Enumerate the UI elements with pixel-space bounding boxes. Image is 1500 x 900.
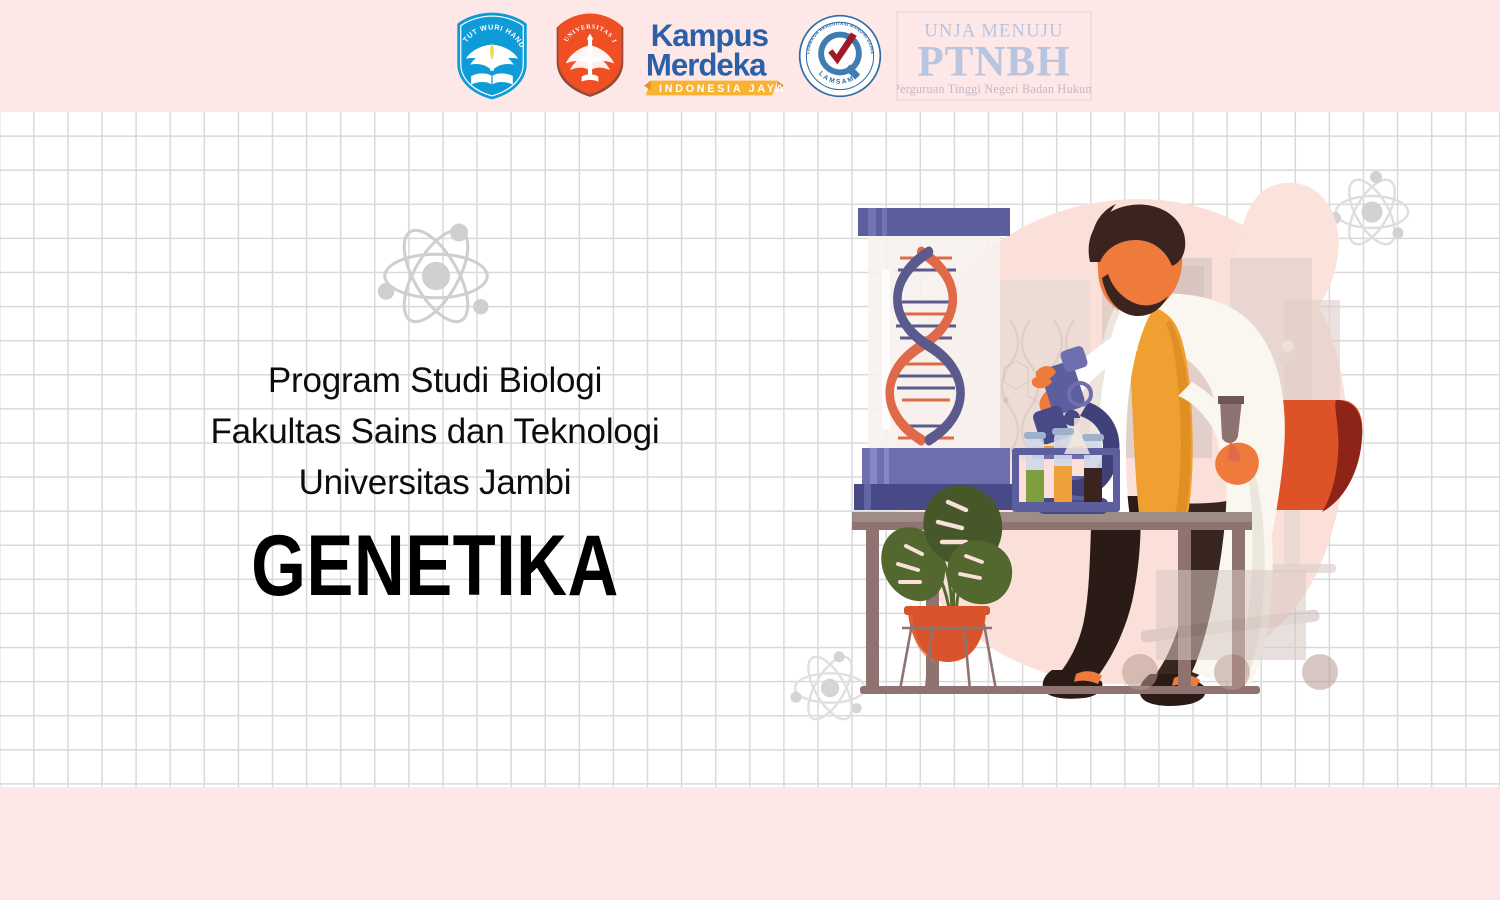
dna-double-helix-cylinder [854,208,1016,510]
tut-wuri-handayani-logo: TUT WURI HANDAYANI [448,10,536,102]
title-group: Program Studi Biologi Fakultas Sains dan… [110,355,760,612]
unja-ptnbh-logo: UNJA MENUJU PTNBH Perguruan Tinggi Neger… [896,11,1092,101]
logo-strip: TUT WURI HANDAYANI UNIVERSITAS JAMBI [448,0,1092,112]
program-line-2: Fakultas Sains dan Teknologi [110,406,760,457]
svg-text:Merdeka: Merdeka [646,48,767,83]
atom-icon-left [372,212,500,340]
universitas-jambi-logo: UNIVERSITAS JAMBI [550,11,630,101]
kampus-merdeka-logo: Kampus Merdeka INDONESIA JAYA [644,10,784,102]
svg-text:INDONESIA JAYA: INDONESIA JAYA [659,83,784,95]
footer-band [0,787,1500,900]
program-line-1: Program Studi Biologi [110,355,760,406]
program-line-3: Universitas Jambi [110,457,760,508]
svg-text:PTNBH: PTNBH [917,39,1070,86]
slide-root: TUT WURI HANDAYANI UNIVERSITAS JAMBI [0,0,1500,900]
svg-text:Perguruan Tinggi Negeri Badan: Perguruan Tinggi Negeri Badan Hukum [896,82,1092,96]
scientist-lab-genetics-illustration [840,150,1420,710]
page-title: GENETIKA [169,520,702,612]
lamsama-accreditation-logo: LEMBAGA AKREDITASI MANDIRI SAINS ALAM DA… [798,13,882,99]
